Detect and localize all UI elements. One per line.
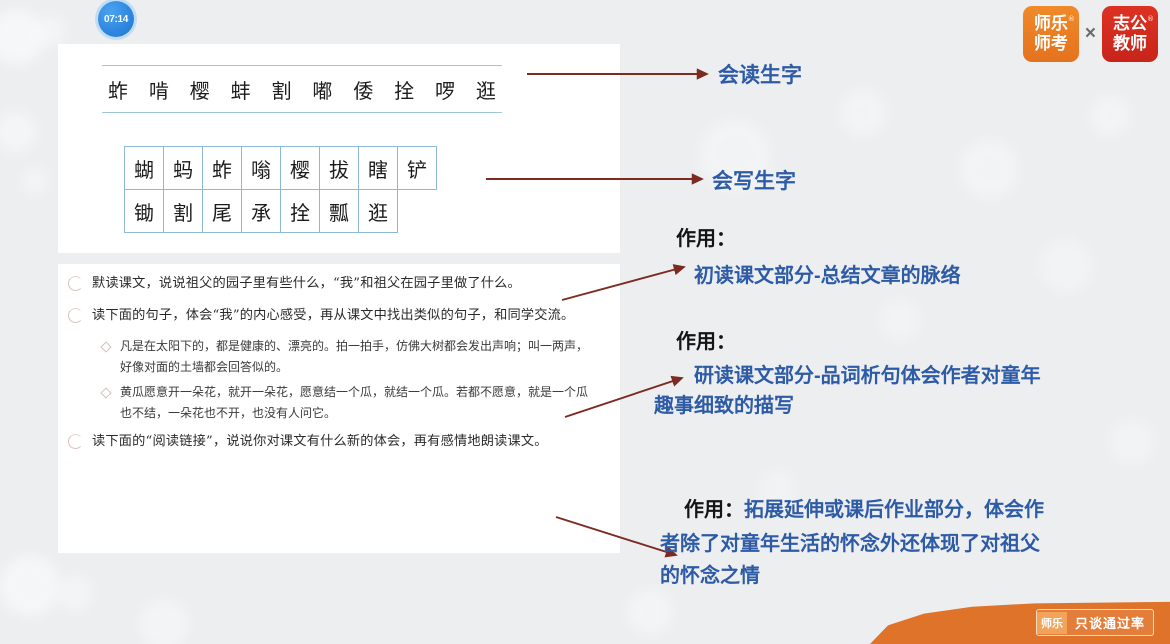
write-character-cell: 锄: [124, 189, 164, 233]
bokeh-decoration: [840, 90, 886, 136]
read-character: 蚱: [108, 75, 128, 104]
sub-item: 凡是在太阳下的，都是健康的、漂亮的。拍一拍手，仿佛大树都会发出声响；叫一两声，好…: [102, 336, 620, 378]
bokeh-decoration: [0, 112, 36, 152]
question-bullet-icon: [68, 434, 83, 449]
bokeh-decoration: [1040, 240, 1092, 292]
question-item-3: 读下面的“阅读链接”，说说你对课文有什么新的体会，再有感情地朗读课文。: [58, 430, 620, 453]
annotation-block-1: 作用： 初读课文部分-总结文章的脉络: [676, 222, 961, 288]
ribbon-tag: 师乐 只谈通过率: [1036, 609, 1154, 636]
read-characters-row: 蚱 啃 樱 蚌 割 嘟 倭 拴 啰 逛: [102, 65, 502, 113]
bokeh-decoration: [140, 600, 188, 644]
write-character-cell: 樱: [280, 146, 320, 190]
bokeh-decoration: [0, 556, 60, 616]
write-character-cell: 尾: [202, 189, 242, 233]
sub-text: 凡是在太阳下的，都是健康的、漂亮的。拍一拍手，仿佛大树都会发出声响；叫一两声，好…: [120, 336, 590, 378]
annotation-body: 初读课文部分-总结文章的脉络: [676, 259, 961, 288]
logo-line-1: 志公: [1113, 14, 1147, 34]
logo-line-2: 师考: [1034, 34, 1068, 54]
annotation-body-line-3: 的怀念之情: [660, 560, 1044, 592]
bokeh-decoration: [1110, 420, 1154, 464]
question-list: 默读课文，说说祖父的园子里有些什么，“我”和祖父在园子里做了什么。 读下面的句子…: [58, 272, 620, 462]
annotation-body-line-1: 拓展延伸或课后作业部分，体会作: [744, 499, 1044, 521]
annotation-block-3: 作用：拓展延伸或课后作业部分，体会作 者除了对童年生活的怀念外还体现了对祖父 的…: [660, 494, 1044, 592]
write-character-cell: 拴: [280, 189, 320, 233]
question-bullet-icon: [68, 308, 83, 323]
write-character-cell: 蝴: [124, 146, 164, 190]
question-text: 读下面的“阅读链接”，说说你对课文有什么新的体会，再有感情地朗读课文。: [92, 430, 608, 453]
logo-line-1: 师乐: [1034, 14, 1068, 34]
read-character: 逛: [476, 75, 496, 104]
logo-separator-x: ×: [1085, 23, 1096, 45]
registered-mark: ®: [1147, 9, 1154, 29]
bokeh-decoration: [628, 590, 672, 634]
bokeh-decoration: [22, 168, 48, 194]
read-character: 啃: [149, 75, 169, 104]
logo-line-2: 教师: [1113, 34, 1147, 54]
write-character-cell: 瞎: [358, 146, 398, 190]
annotation-body-line-2: 者除了对童年生活的怀念外还体现了对祖父: [660, 528, 1044, 560]
question-text: 默读课文，说说祖父的园子里有些什么，“我”和祖父在园子里做了什么。: [92, 272, 608, 295]
annotation-body: 研读课文部分-品词析句体会作者对童年 趣事细致的描写: [676, 361, 1041, 421]
write-character-cell: 蚂: [163, 146, 203, 190]
bokeh-decoration: [58, 576, 92, 610]
annotation-label: 作用：: [676, 222, 961, 251]
question-bullet-icon: [68, 276, 83, 291]
question-text: 读下面的句子，体会“我”的内心感受，再从课文中找出类似的句子，和同学交流。: [92, 304, 608, 327]
annotation-body-line-1: 研读课文部分-品词析句体会作者对童年: [676, 361, 1041, 391]
write-character-cell: 承: [241, 189, 281, 233]
diamond-bullet-icon: [100, 387, 111, 398]
annotation-label: 作用：: [676, 325, 1041, 354]
read-character: 樱: [190, 75, 210, 104]
grid-row: 蝴 蚂 蚱 嗡 樱 拔 瞎 铲: [124, 146, 436, 189]
read-character: 蚌: [231, 75, 251, 104]
ribbon-badge: 师乐: [1037, 612, 1067, 634]
write-character-cell: 逛: [358, 189, 398, 233]
annotation-write-label: 会写生字: [712, 165, 796, 195]
ribbon-slogan: 只谈通过率: [1067, 610, 1153, 635]
annotation-line-1: 作用：拓展延伸或课后作业部分，体会作: [660, 494, 1044, 528]
annotation-read-label: 会读生字: [718, 59, 802, 89]
logo-shile-shikao: ® 师乐 师考: [1023, 6, 1079, 62]
diamond-bullet-icon: [100, 341, 111, 352]
annotation-label: 作用：: [684, 499, 744, 521]
read-character: 割: [272, 75, 292, 104]
write-character-cell: 蚱: [202, 146, 242, 190]
annotation-block-2: 作用： 研读课文部分-品词析句体会作者对童年 趣事细致的描写: [676, 325, 1041, 421]
slide-canvas: 07:14 ® 师乐 师考 × ® 志公 教师 蚱 啃 樱 蚌 割 嘟 倭 拴 …: [0, 0, 1170, 644]
sub-item: 黄瓜愿意开一朵花，就开一朵花，愿意结一个瓜，就结一个瓜。若都不愿意，就是一个瓜也…: [102, 382, 620, 424]
write-character-cell: 瓢: [319, 189, 359, 233]
write-character-cell: 铲: [397, 146, 437, 190]
bokeh-decoration: [960, 140, 1018, 198]
logo-zhigong-jiaoshi: ® 志公 教师: [1102, 6, 1158, 62]
question-2-sub-list: 凡是在太阳下的，都是健康的、漂亮的。拍一拍手，仿佛大树都会发出声响；叫一两声，好…: [102, 336, 620, 424]
timer-value: 07:14: [104, 14, 128, 25]
sub-text: 黄瓜愿意开一朵花，就开一朵花，愿意结一个瓜，就结一个瓜。若都不愿意，就是一个瓜也…: [120, 382, 590, 424]
read-character: 嘟: [312, 75, 332, 104]
question-item-2: 读下面的句子，体会“我”的内心感受，再从课文中找出类似的句子，和同学交流。: [58, 304, 620, 327]
grid-row: 锄 割 尾 承 拴 瓢 逛: [124, 189, 436, 232]
write-character-cell: 拔: [319, 146, 359, 190]
read-character: 啰: [435, 75, 455, 104]
bokeh-decoration: [36, 16, 66, 46]
annotation-body-line-2: 趣事细致的描写: [654, 391, 1041, 421]
registered-mark: ®: [1068, 9, 1075, 29]
write-character-cell: 割: [163, 189, 203, 233]
bottom-ribbon: 师乐 只谈通过率: [870, 595, 1170, 644]
bokeh-decoration: [1090, 96, 1130, 136]
timer-badge[interactable]: 07:14: [98, 1, 134, 37]
write-character-cell: 嗡: [241, 146, 281, 190]
read-character: 倭: [353, 75, 373, 104]
read-character: 拴: [394, 75, 414, 104]
question-item-1: 默读课文，说说祖父的园子里有些什么，“我”和祖父在园子里做了什么。: [58, 272, 620, 295]
write-characters-grid: 蝴 蚂 蚱 嗡 樱 拔 瞎 铲 锄 割 尾 承 拴 瓢 逛: [124, 146, 436, 232]
brand-logo-group: ® 师乐 师考 × ® 志公 教师: [1023, 6, 1158, 62]
